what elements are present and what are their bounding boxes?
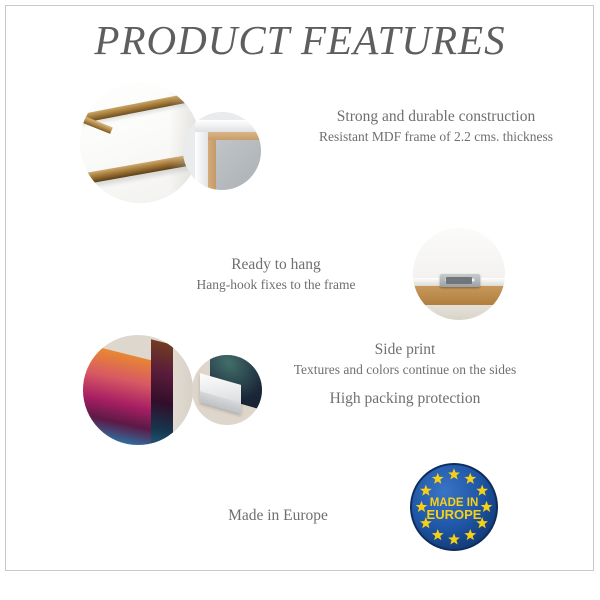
canvas-grey-surface bbox=[210, 139, 261, 190]
feature-text-made-in-europe: Made in Europe bbox=[185, 506, 371, 526]
eu-made-badge: MADE IN EUROPE bbox=[409, 462, 499, 552]
feature-subline: Resistant MDF frame of 2.2 cms. thicknes… bbox=[281, 127, 591, 147]
feature-text-ready-to-hang: Ready to hang Hang-hook fixes to the fra… bbox=[163, 255, 389, 295]
side-print-photo bbox=[83, 335, 193, 445]
feature-text-durable-construction: Strong and durable construction Resistan… bbox=[281, 107, 591, 147]
feature-headline: Made in Europe bbox=[185, 506, 371, 526]
canvas-side-edge bbox=[151, 339, 173, 445]
feature-subline: Textures and colors continue on the side… bbox=[261, 360, 549, 380]
feature-headline: Ready to hang bbox=[163, 255, 389, 275]
hanging-hook-photo bbox=[413, 228, 505, 320]
eu-badge-graphic: MADE IN EUROPE bbox=[409, 462, 499, 552]
photo-floor-surface bbox=[413, 305, 505, 320]
product-features-infographic: PRODUCT FEATURES Strong and durable cons… bbox=[0, 0, 600, 600]
frame-wood-band bbox=[413, 285, 505, 305]
feature-text-side-print: Side print Textures and colors continue … bbox=[261, 340, 549, 380]
hook-bracket-slot bbox=[446, 277, 472, 284]
feature-headline: Strong and durable construction bbox=[281, 107, 591, 127]
corner-white-horizontal bbox=[195, 120, 261, 132]
page-title: PRODUCT FEATURES bbox=[0, 16, 600, 64]
feature-headline: Side print bbox=[261, 340, 549, 360]
frame-corner-photo bbox=[183, 112, 261, 190]
feature-text-packing-protection: High packing protection bbox=[261, 389, 549, 409]
feature-subline: Hang-hook fixes to the frame bbox=[163, 275, 389, 295]
frame-edge-photo bbox=[80, 83, 200, 203]
badge-line-2: EUROPE bbox=[427, 507, 482, 522]
feature-headline: High packing protection bbox=[261, 389, 549, 409]
packing-foam-photo bbox=[192, 355, 262, 425]
